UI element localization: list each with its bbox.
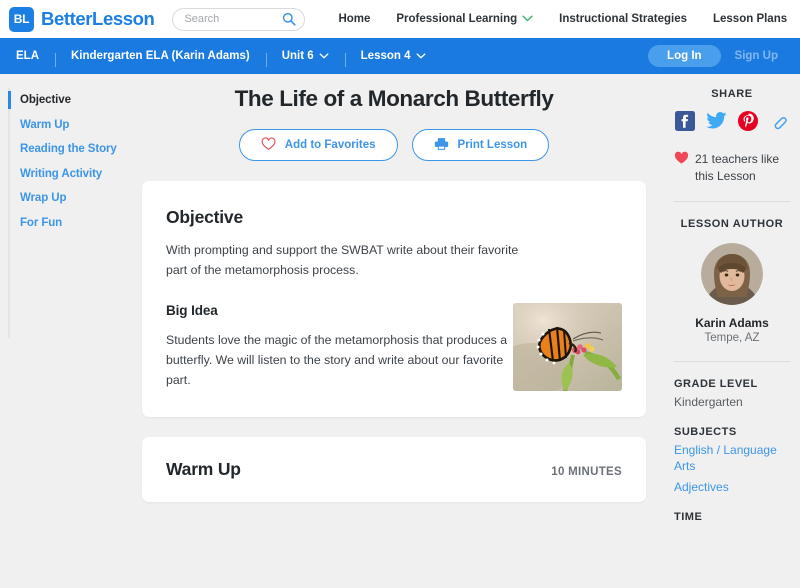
sidebar-item-warm-up[interactable]: Warm Up <box>0 113 140 138</box>
big-idea-body: Students love the magic of the metamorph… <box>166 331 521 391</box>
twitter-icon[interactable] <box>706 111 727 131</box>
breadcrumb-item-lesson-label: Lesson 4 <box>361 50 411 62</box>
page-title: The Life of a Monarch Butterfly <box>142 86 646 112</box>
breadcrumb-item-ela[interactable]: ELA <box>16 50 55 62</box>
subjects-block: SUBJECTS English / Language Arts Adjecti… <box>672 426 792 495</box>
avatar[interactable] <box>701 243 763 305</box>
time-block: TIME <box>672 511 792 523</box>
sidebar-item-for-fun-label: For Fun <box>20 217 62 229</box>
lesson-action-buttons: Add to Favorites Print Lesson <box>142 129 646 161</box>
add-to-favorites-label: Add to Favorites <box>285 139 376 151</box>
link-icon[interactable] <box>769 111 789 131</box>
nav-item-lesson-plans-label: Lesson Plans <box>713 13 787 25</box>
facebook-icon[interactable] <box>675 111 695 131</box>
butterfly-image[interactable] <box>513 303 622 391</box>
print-lesson-label: Print Lesson <box>458 139 528 151</box>
log-in-button[interactable]: Log In <box>648 45 721 67</box>
logo-wordmark: BetterLesson <box>41 8 154 30</box>
sidebar-item-reading-the-story[interactable]: Reading the Story <box>0 137 140 162</box>
objective-body: With prompting and support the SWBAT wri… <box>166 241 521 281</box>
nav-item-instructional-strategies-label: Instructional Strategies <box>559 13 687 25</box>
sidebar-item-wrap-up[interactable]: Wrap Up <box>0 186 140 211</box>
lesson-author-block: LESSON AUTHOR <box>672 218 792 344</box>
search-icon[interactable] <box>282 12 296 26</box>
sidebar-item-for-fun[interactable]: For Fun <box>0 211 140 236</box>
breadcrumb-item-course-label: Kindergarten ELA (Karin Adams) <box>71 50 250 62</box>
pinterest-icon[interactable] <box>738 111 758 131</box>
likes-row: 21 teachers like this Lesson <box>672 151 792 184</box>
top-navigation-bar: BL BetterLesson Home Professional Learni… <box>0 0 800 38</box>
time-label: TIME <box>674 511 792 523</box>
breadcrumb-bar: ELA Kindergarten ELA (Karin Adams) Unit … <box>0 38 800 74</box>
share-heading: SHARE <box>672 88 792 100</box>
chevron-down-icon <box>522 13 533 25</box>
heart-filled-icon <box>674 151 689 170</box>
subject-link-english-language-arts[interactable]: English / Language Arts <box>674 442 792 474</box>
sidebar-item-reading-the-story-label: Reading the Story <box>20 143 117 155</box>
page-body: Objective Warm Up Reading the Story Writ… <box>0 74 800 588</box>
sidebar-item-objective-label: Objective <box>20 94 71 106</box>
objective-card: Objective With prompting and support the… <box>142 181 646 417</box>
divider <box>674 361 790 362</box>
nav-item-home[interactable]: Home <box>338 13 370 25</box>
sidebar-item-objective[interactable]: Objective <box>0 88 140 113</box>
subjects-label: SUBJECTS <box>674 426 792 438</box>
grade-level-label: GRADE LEVEL <box>674 378 792 390</box>
breadcrumb-item-lesson[interactable]: Lesson 4 <box>345 50 442 62</box>
objective-heading: Objective <box>166 207 622 228</box>
sign-up-button[interactable]: Sign Up <box>725 45 788 67</box>
sidebar-item-writing-activity-label: Writing Activity <box>20 168 102 180</box>
auth-controls: Log In Sign Up <box>648 45 788 67</box>
grade-level-block: GRADE LEVEL Kindergarten <box>672 378 792 410</box>
author-location: Tempe, AZ <box>672 332 792 344</box>
divider <box>674 201 790 202</box>
add-to-favorites-button[interactable]: Add to Favorites <box>239 129 398 161</box>
sidebar-item-writing-activity[interactable]: Writing Activity <box>0 162 140 187</box>
breadcrumb-item-course[interactable]: Kindergarten ELA (Karin Adams) <box>55 50 266 62</box>
grade-level-value: Kindergarten <box>674 394 792 410</box>
nav-item-home-label: Home <box>338 13 370 25</box>
breadcrumb-item-unit[interactable]: Unit 6 <box>266 50 345 62</box>
print-lesson-button[interactable]: Print Lesson <box>412 129 550 161</box>
warm-up-duration: 10 MINUTES <box>551 466 622 478</box>
main-content: The Life of a Monarch Butterfly Add to F… <box>140 74 664 588</box>
search-box[interactable] <box>172 8 305 31</box>
author-name: Karin Adams <box>672 316 792 330</box>
heart-icon <box>261 137 276 154</box>
breadcrumb-item-unit-label: Unit 6 <box>282 50 314 62</box>
nav-item-professional-learning-label: Professional Learning <box>396 13 517 25</box>
subject-link-adjectives[interactable]: Adjectives <box>674 479 792 495</box>
nav-item-professional-learning[interactable]: Professional Learning <box>396 13 533 25</box>
sidebar-item-wrap-up-label: Wrap Up <box>20 192 66 204</box>
likes-text: 21 teachers like this Lesson <box>695 151 790 184</box>
printer-icon <box>434 137 449 154</box>
nav-item-instructional-strategies[interactable]: Instructional Strategies <box>559 13 687 25</box>
nav-item-lesson-plans[interactable]: Lesson Plans <box>713 13 787 25</box>
search-input[interactable] <box>184 13 282 25</box>
primary-nav: Home Professional Learning Instructional… <box>338 13 787 25</box>
chevron-down-icon <box>416 50 426 62</box>
logo-mark-icon: BL <box>9 7 34 32</box>
sidebar-item-warm-up-label: Warm Up <box>20 119 69 131</box>
lesson-section-nav: Objective Warm Up Reading the Story Writ… <box>0 74 140 588</box>
share-buttons <box>672 111 792 131</box>
lesson-meta-sidebar: SHARE 21 teachers like this Lesson LESSO <box>664 74 800 588</box>
breadcrumb-item-ela-label: ELA <box>16 50 39 62</box>
chevron-down-icon <box>319 50 329 62</box>
warm-up-card: Warm Up 10 MINUTES <box>142 437 646 502</box>
site-logo[interactable]: BL BetterLesson <box>9 7 154 32</box>
lesson-author-heading: LESSON AUTHOR <box>672 218 792 230</box>
warm-up-heading: Warm Up <box>166 459 241 480</box>
